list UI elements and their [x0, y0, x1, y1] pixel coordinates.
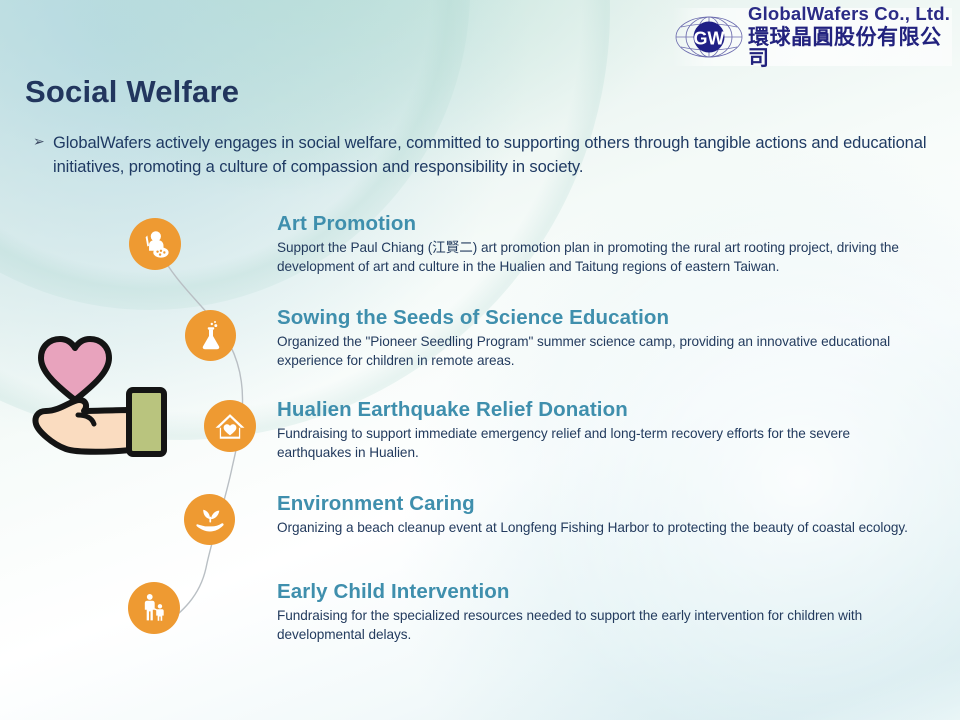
- item-title: Art Promotion: [277, 212, 927, 236]
- intro-bullet: ➢ GlobalWafers actively engages in socia…: [33, 131, 933, 180]
- heart-shape: [41, 339, 109, 400]
- company-logo: GW GlobalWafers Co., Ltd. 環球晶圓股份有限公司: [672, 8, 952, 66]
- item-title: Environment Caring: [277, 492, 927, 516]
- item-title: Hualien Earthquake Relief Donation: [277, 398, 927, 422]
- item-title: Early Child Intervention: [277, 580, 927, 604]
- item-title: Sowing the Seeds of Science Education: [277, 306, 927, 330]
- intro-text: GlobalWafers actively engages in social …: [53, 131, 933, 180]
- hand-sprout-icon[interactable]: [184, 494, 235, 545]
- page-title: Social Welfare: [25, 74, 239, 110]
- house-heart-icon[interactable]: [204, 400, 256, 452]
- item-description: Organized the "Pioneer Seedling Program"…: [277, 332, 927, 371]
- sleeve-cuff: [129, 390, 164, 454]
- gw-globe-icon: GW: [672, 10, 746, 64]
- bullet-arrow-icon: ➢: [33, 134, 53, 148]
- item-description: Fundraising to support immediate emergen…: [277, 424, 927, 463]
- item-description: Organizing a beach cleanup event at Long…: [277, 518, 927, 537]
- slide-canvas: GW GlobalWafers Co., Ltd. 環球晶圓股份有限公司 Soc…: [0, 0, 960, 720]
- artist-palette-glyph: [138, 227, 172, 261]
- adult-child-icon[interactable]: [128, 582, 180, 634]
- gw-monogram-text: GW: [694, 29, 725, 49]
- adult-child-glyph: [137, 591, 171, 625]
- heart-in-hand-illustration: [22, 332, 182, 458]
- item-description: Fundraising for the specialized resource…: [277, 606, 927, 645]
- science-flask-icon[interactable]: [185, 310, 236, 361]
- house-heart-glyph: [213, 409, 247, 443]
- logo-chinese-name: 環球晶圓股份有限公司: [748, 27, 952, 69]
- hand-sprout-glyph: [193, 503, 227, 537]
- hand-shape: [35, 400, 130, 452]
- item-description: Support the Paul Chiang (江賢二) art promot…: [277, 238, 927, 277]
- artist-palette-icon[interactable]: [129, 218, 181, 270]
- science-flask-glyph: [195, 320, 227, 352]
- logo-english-name: GlobalWafers Co., Ltd.: [748, 5, 952, 24]
